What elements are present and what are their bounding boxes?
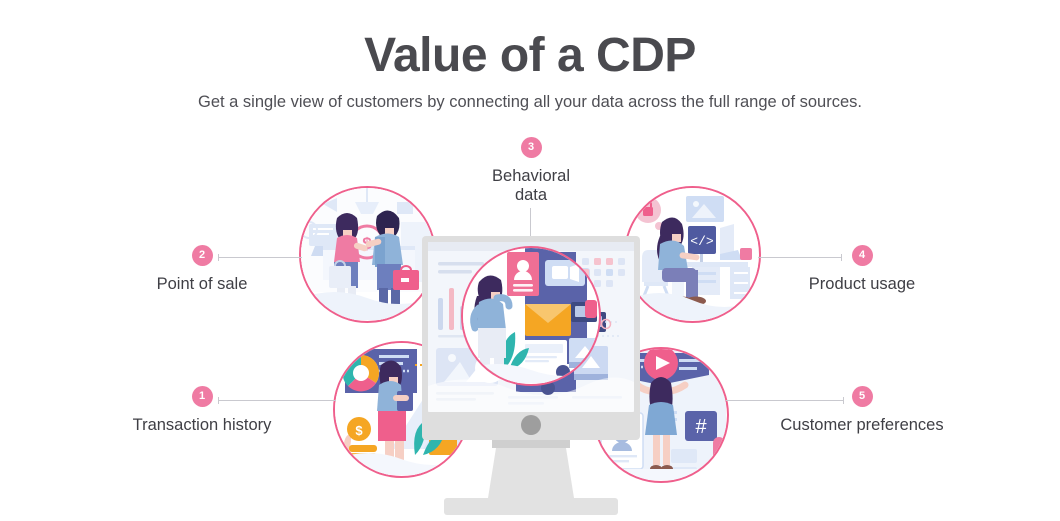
svg-text:</>: </>: [690, 234, 714, 249]
page-subtitle: Get a single view of customers by connec…: [0, 93, 1060, 112]
label-customer-preferences: Customer preferences: [750, 416, 974, 435]
node-point-of-sale[interactable]: 2 Point of sale: [100, 245, 304, 294]
label-behavioral-data-line2: data: [440, 186, 622, 205]
badge-number-1: 1: [192, 386, 213, 407]
illustration-point-of-sale: $: [299, 186, 436, 323]
point-of-sale-svg: $: [301, 188, 433, 320]
infographic-canvas: Value of a CDP Get a single view of cust…: [0, 0, 1060, 521]
illustration-behavioral-data: [461, 246, 601, 386]
badge-number-5: 5: [852, 386, 873, 407]
label-product-usage: Product usage: [760, 275, 964, 294]
label-point-of-sale: Point of sale: [100, 275, 304, 294]
label-transaction-history: Transaction history: [100, 416, 304, 435]
behavioral-data-svg: [463, 248, 598, 383]
product-usage-svg: </>: [626, 188, 758, 320]
node-transaction-history[interactable]: 1 Transaction history: [100, 386, 304, 435]
label-behavioral-data-line1: Behavioral: [440, 167, 622, 186]
illustration-product-usage: </>: [624, 186, 761, 323]
svg-text:#: #: [695, 416, 707, 438]
badge-number-3: 3: [521, 137, 542, 158]
page-title: Value of a CDP: [0, 28, 1060, 83]
node-product-usage[interactable]: 4 Product usage: [760, 245, 964, 294]
svg-text:$: $: [355, 423, 363, 438]
badge-number-4: 4: [852, 245, 873, 266]
badge-number-2: 2: [192, 245, 213, 266]
node-customer-preferences[interactable]: 5 Customer preferences: [750, 386, 974, 435]
node-behavioral-data[interactable]: 3 Behavioral data: [440, 137, 622, 205]
